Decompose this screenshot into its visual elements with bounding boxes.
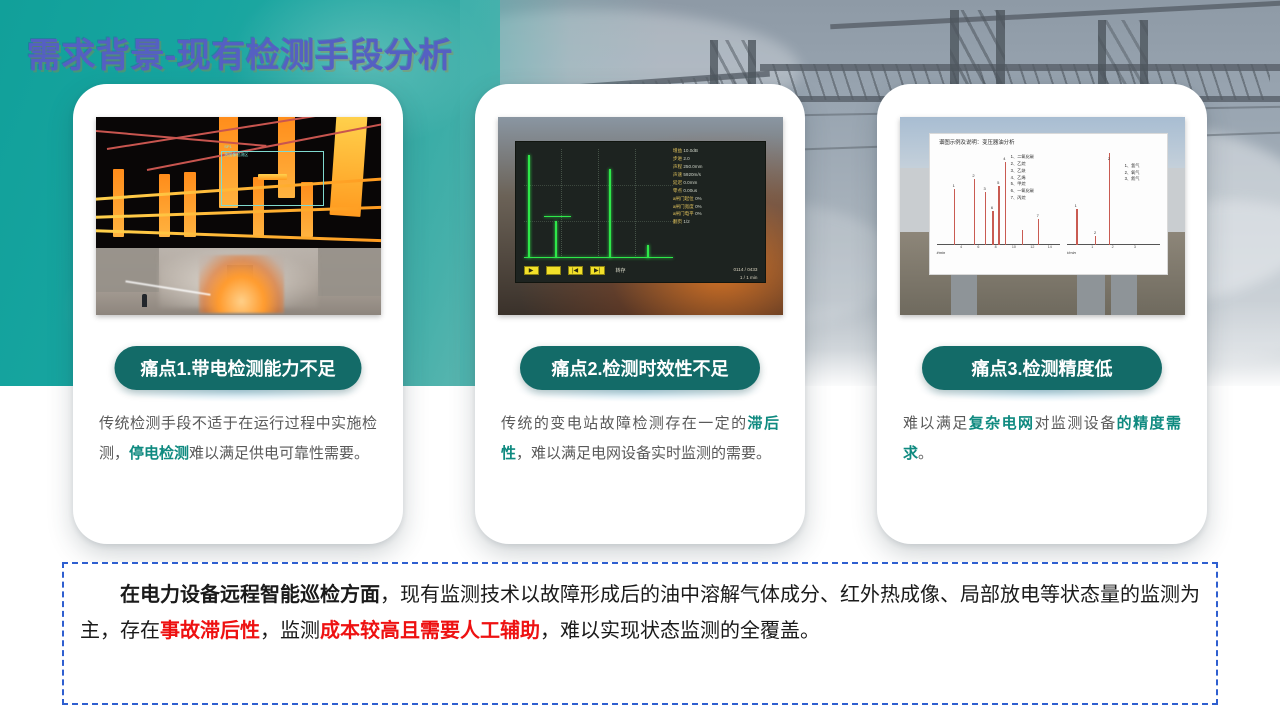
pain-point-badge-3: 痛点3.检测精度低 bbox=[922, 346, 1162, 390]
body-3-highlight-1: 复杂电网 bbox=[969, 415, 1035, 432]
pain-point-badge-2: 痛点2.检测时效性不足 bbox=[520, 346, 760, 390]
callout-red-1: 事故滞后性 bbox=[160, 620, 260, 642]
pain-point-card-2[interactable]: 增益 10.0dB 步进 2.0 声程 250.0mm 声速 5920m/s 延… bbox=[475, 84, 805, 544]
ultrasonic-button-bar[interactable]: ▶ |◀ ▶| 转存 bbox=[524, 261, 758, 279]
callout-red-2: 成本较高且需要人工辅助 bbox=[320, 620, 540, 642]
callout-seg4: ，难以实现状态监测的全覆盖。 bbox=[540, 620, 820, 642]
ultrasonic-parameter-list: 增益 10.0dB 步进 2.0 声程 250.0mm 声速 5920m/s 延… bbox=[673, 147, 760, 226]
pain-point-body-2: 传统的变电站故障检测存在一定的滞后性，难以满足电网设备实时监测的需要。 bbox=[501, 409, 779, 469]
ultrasonic-detector-image: 增益 10.0dB 步进 2.0 声程 250.0mm 声速 5920m/s 延… bbox=[498, 117, 783, 315]
chromatogram-right-legend: 1、氢气 2、氧气 3、氮气 bbox=[1125, 163, 1140, 183]
chromatogram-title: 谱图示例及说明：变压器油分析 bbox=[939, 138, 1014, 146]
stop-button[interactable] bbox=[546, 266, 561, 275]
next-button[interactable]: ▶| bbox=[590, 266, 605, 275]
pain-point-body-1: 传统检测手段不适于在运行过程中实施检测，停电检测难以满足供电可靠性需要。 bbox=[99, 409, 377, 469]
body-1-seg2: 难以满足供电可靠性需要。 bbox=[189, 445, 369, 462]
prev-button[interactable]: |◀ bbox=[568, 266, 583, 275]
chromatogram-right-panel: 1 2 2 1、氢气 2、氧气 3、氮气 t/min 1 2 3 bbox=[1067, 156, 1160, 263]
ultrasonic-counter: 0114 / 0433 1 / 1 min bbox=[734, 266, 758, 281]
page-title: 需求背景-现有检测手段分析 bbox=[27, 28, 453, 77]
chromatogram-left-panel: 1 2 3 6 5 4 7 1、二氧化碳 2、乙烷 3、乙炔 4、乙烯 5、甲烷… bbox=[937, 156, 1060, 263]
body-3-seg1: 难以满足 bbox=[903, 415, 969, 432]
callout-seg3: ，监测 bbox=[260, 620, 320, 642]
body-2-seg1: 传统的变电站故障检测存在一定的 bbox=[501, 415, 748, 432]
thermal-infrared-image: SP1 热图像检测区 bbox=[96, 117, 381, 315]
pain-point-card-1[interactable]: SP1 热图像检测区 痛点1.带电检测能力不足 传统检测手段不适于在运行过程中实… bbox=[73, 84, 403, 544]
chromatogram-xlabel-left: t/min bbox=[937, 250, 946, 255]
save-label: 转存 bbox=[616, 267, 626, 274]
summary-callout-box: 在电力设备远程智能巡检方面，现有监测技术以故障形成后的油中溶解气体成分、红外热成… bbox=[62, 562, 1218, 705]
chromatogram-image: 谱图示例及说明：变压器油分析 1 2 3 6 5 4 7 1、二氧化碳 2、乙烷… bbox=[900, 117, 1185, 315]
pain-point-badge-1: 痛点1.带电检测能力不足 bbox=[114, 346, 361, 390]
chromatogram-xlabel-right: t/min bbox=[1067, 250, 1076, 255]
play-button[interactable]: ▶ bbox=[524, 266, 539, 275]
body-3-seg3: 。 bbox=[918, 445, 933, 462]
callout-bold-lead: 在电力设备远程智能巡检方面 bbox=[120, 584, 380, 606]
body-3-seg2: 对监测设备 bbox=[1035, 415, 1117, 432]
pain-point-body-3: 难以满足复杂电网对监测设备的精度需求。 bbox=[903, 409, 1181, 469]
chromatogram-left-legend: 1、二氧化碳 2、乙烷 3、乙炔 4、乙烯 5、甲烷 6、一氧化碳 7、丙烷 bbox=[1011, 154, 1034, 202]
body-1-highlight: 停电检测 bbox=[129, 445, 189, 462]
body-2-seg2: ，难以满足电网设备实时监测的需要。 bbox=[516, 445, 771, 462]
summary-callout-text: 在电力设备远程智能巡检方面，现有监测技术以故障形成后的油中溶解气体成分、红外热成… bbox=[64, 564, 1216, 649]
pain-point-card-3[interactable]: 谱图示例及说明：变压器油分析 1 2 3 6 5 4 7 1、二氧化碳 2、乙烷… bbox=[877, 84, 1207, 544]
